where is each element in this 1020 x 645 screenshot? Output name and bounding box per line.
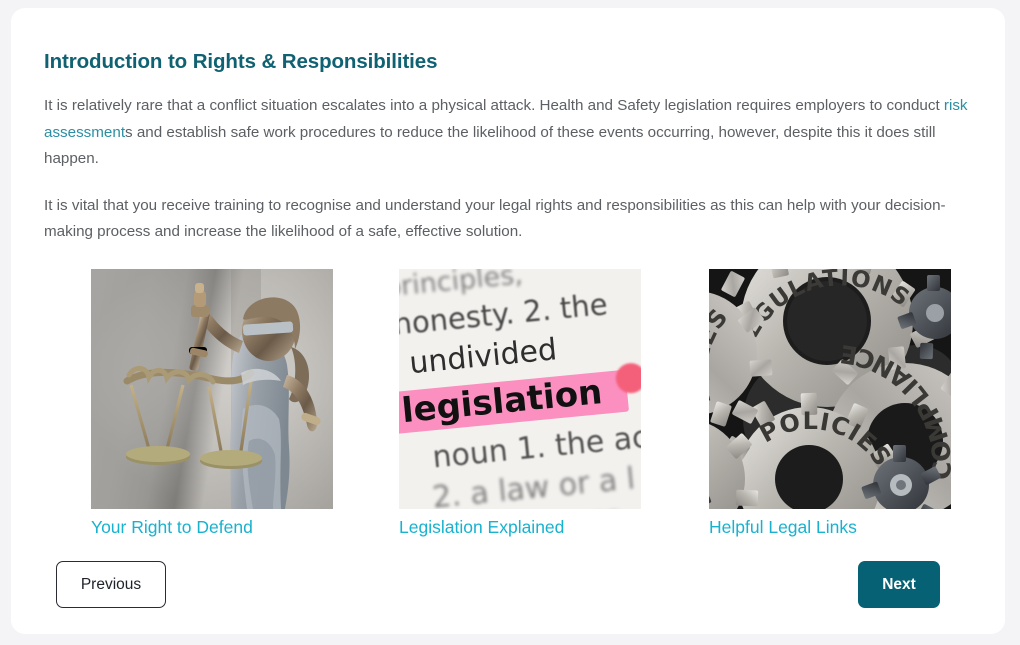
lady-justice-statue-image[interactable] [91, 269, 333, 509]
resource-card-your-right-to-defend[interactable]: Your Right to Defend [91, 269, 333, 538]
legislation-dictionary-image[interactable]: principles, honesty. 2. the undivided le… [399, 269, 641, 509]
gear-photo: REGULATIONS [709, 269, 951, 509]
intro-paragraph-1: It is relatively rare that a conflict si… [44, 93, 972, 173]
resource-caption-helpful-legal-links[interactable]: Helpful Legal Links [709, 517, 951, 538]
resource-card-legislation-explained[interactable]: principles, honesty. 2. the undivided le… [399, 269, 641, 538]
dictionary-page: principles, honesty. 2. the undivided le… [399, 269, 641, 509]
resource-caption-legislation-explained[interactable]: Legislation Explained [399, 517, 641, 538]
page-background: Introduction to Rights & Responsibilitie… [0, 0, 1020, 645]
gears-illustration: REGULATIONS [709, 269, 951, 509]
compliance-gears-image[interactable]: REGULATIONS [709, 269, 951, 509]
resource-card-helpful-legal-links[interactable]: REGULATIONS [709, 269, 951, 538]
intro-paragraph-2: It is vital that you receive training to… [44, 193, 972, 246]
lesson-content: Introduction to Rights & Responsibilitie… [44, 50, 972, 612]
lesson-card: Introduction to Rights & Responsibilitie… [11, 8, 1005, 634]
dictionary-line-3: undivided [408, 332, 559, 381]
resource-caption-your-right-to-defend[interactable]: Your Right to Defend [91, 517, 333, 538]
next-button[interactable]: Next [858, 561, 940, 608]
previous-button[interactable]: Previous [56, 561, 166, 608]
paragraph-1-text-before-link: It is relatively rare that a conflict si… [44, 97, 944, 114]
lady-justice-illustration [91, 269, 333, 509]
navigation-bar: Previous Next [44, 561, 972, 621]
resource-card-row: Your Right to Defend principles, honesty… [44, 269, 972, 549]
paragraph-1-text-after-link: s and establish safe work procedures to … [44, 124, 936, 168]
page-title: Introduction to Rights & Responsibilitie… [44, 50, 972, 74]
